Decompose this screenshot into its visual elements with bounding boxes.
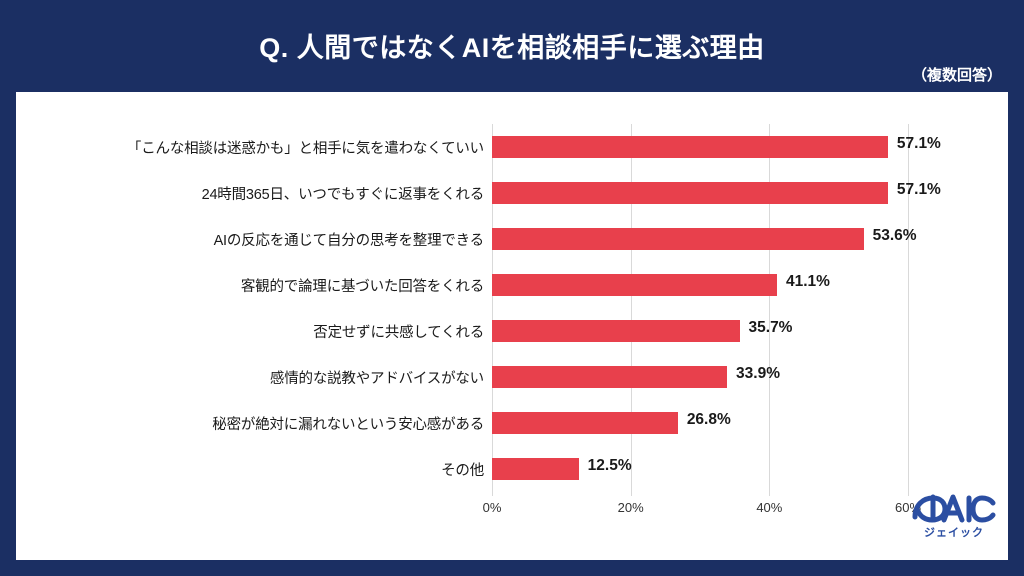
jaic-logo: ジェイック [908, 492, 1000, 554]
category-label: 24時間365日、いつでもすぐに返事をくれる [56, 183, 484, 204]
category-label: 秘密が絶対に漏れないという安心感がある [56, 413, 484, 434]
chart-row: 「こんな相談は迷惑かも」と相手に気を遣わなくていい57.1% [16, 124, 1008, 170]
bar-value-label: 35.7% [749, 319, 793, 337]
chart-row: AIの反応を通じて自分の思考を整理できる53.6% [16, 216, 1008, 262]
chart-row: 秘密が絶対に漏れないという安心感がある26.8% [16, 400, 1008, 446]
category-label: 客観的で論理に基づいた回答をくれる [56, 275, 484, 296]
bar-segment [492, 320, 740, 342]
bar-segment [492, 274, 777, 296]
bar-value-label: 12.5% [588, 457, 632, 475]
chart-card: 「こんな相談は迷惑かも」と相手に気を遣わなくていい57.1%24時間365日、い… [16, 92, 1008, 560]
category-label: その他 [56, 459, 484, 480]
jaic-logo-mark [908, 492, 1000, 526]
bar-segment [492, 412, 678, 434]
chart-row: その他12.5% [16, 446, 1008, 492]
x-axis: 0%20%40%60% [16, 496, 1008, 526]
category-label: 感情的な説教やアドバイスがない [56, 367, 484, 388]
category-label: 「こんな相談は迷惑かも」と相手に気を遣わなくていい [56, 137, 484, 158]
chart-row: 否定せずに共感してくれる35.7% [16, 308, 1008, 354]
bar-value-label: 57.1% [897, 135, 941, 153]
chart-row: 感情的な説教やアドバイスがない33.9% [16, 354, 1008, 400]
bar-value-label: 33.9% [736, 365, 780, 383]
chart-rows: 「こんな相談は迷惑かも」と相手に気を遣わなくていい57.1%24時間365日、い… [16, 124, 1008, 496]
chart-row: 24時間365日、いつでもすぐに返事をくれる57.1% [16, 170, 1008, 216]
x-tick-label: 20% [618, 500, 644, 515]
bar-chart: 「こんな相談は迷惑かも」と相手に気を遣わなくていい57.1%24時間365日、い… [16, 92, 1008, 560]
subtitle-multiple-answers: （複数回答） [912, 64, 1002, 85]
x-tick-label: 0% [483, 500, 502, 515]
x-tick-label: 40% [756, 500, 782, 515]
category-label: 否定せずに共感してくれる [56, 321, 484, 342]
bar-value-label: 53.6% [873, 227, 917, 245]
bar-segment [492, 228, 864, 250]
jaic-logo-subtext: ジェイック [908, 524, 1000, 540]
bar-value-label: 57.1% [897, 181, 941, 199]
header-bar: Q. 人間ではなくAIを相談相手に選ぶ理由 （複数回答） [0, 0, 1024, 92]
chart-row: 客観的で論理に基づいた回答をくれる41.1% [16, 262, 1008, 308]
bar-segment [492, 366, 727, 388]
bar-value-label: 41.1% [786, 273, 830, 291]
bar-value-label: 26.8% [687, 411, 731, 429]
bar-segment [492, 182, 888, 204]
page-title: Q. 人間ではなくAIを相談相手に選ぶ理由 [0, 26, 1024, 65]
category-label: AIの反応を通じて自分の思考を整理できる [56, 229, 484, 250]
bar-segment [492, 458, 579, 480]
bar-segment [492, 136, 888, 158]
